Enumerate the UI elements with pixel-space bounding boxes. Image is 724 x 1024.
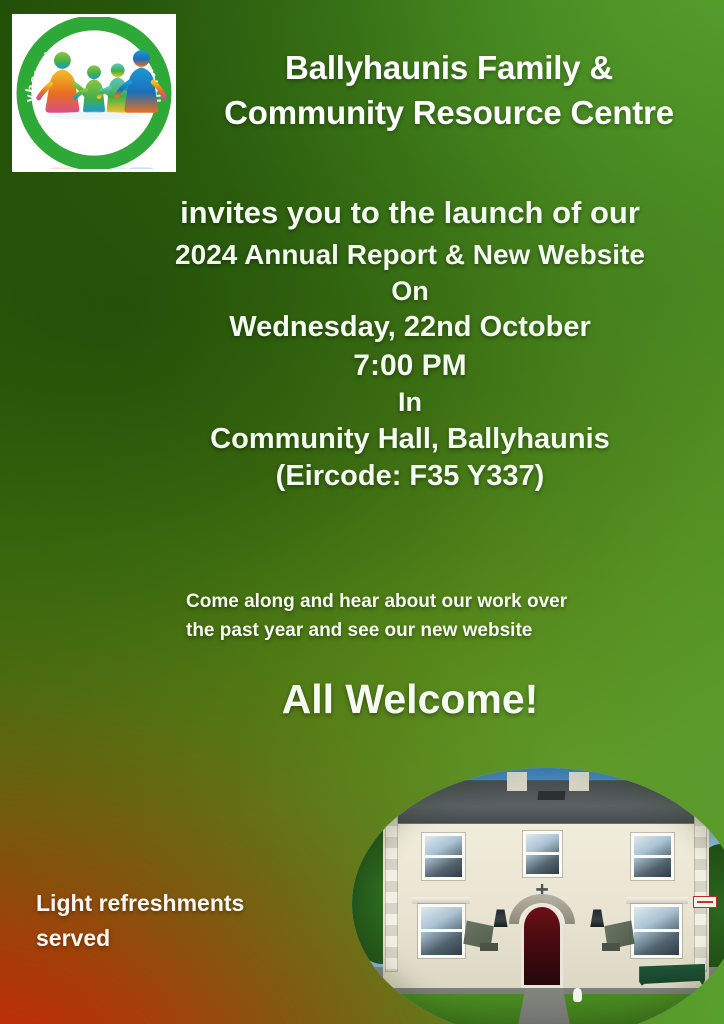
photo-window-upper-left xyxy=(422,833,465,879)
invite-line-in: In xyxy=(90,385,724,420)
photo-window-lower-left xyxy=(418,904,465,958)
invite-line-eircode: (Eircode: F35 Y337) xyxy=(90,458,724,496)
poster-title-line-2: Community Resource Centre xyxy=(186,91,712,136)
logo-icon: Ballyhaunis Family & Community RESOURCE … xyxy=(15,17,173,169)
photo-window-hood-right xyxy=(626,897,688,904)
photo-skylight xyxy=(538,791,566,800)
refreshments-line-1: Light refreshments xyxy=(36,886,336,921)
blurb-line-1: Come along and hear about our work over xyxy=(186,587,638,616)
blurb-line-2: the past year and see our new website xyxy=(186,616,638,645)
invite-line-venue: Community Hall, Ballyhaunis xyxy=(90,421,724,459)
all-welcome-heading: All Welcome! xyxy=(90,676,724,723)
photo-roof xyxy=(368,780,724,824)
photo-notice-sign xyxy=(693,896,716,908)
photo-quoin-right xyxy=(694,814,707,972)
photo-plaque-right xyxy=(602,943,620,950)
photo-window-upper-right xyxy=(631,833,674,879)
poster-title-line-1: Ballyhaunis Family & xyxy=(186,46,712,91)
photo-cat xyxy=(573,988,582,1002)
invite-line-on: On xyxy=(90,274,724,309)
invitation-block: invites you to the launch of our 2024 An… xyxy=(90,193,724,496)
photo-window-lower-right xyxy=(631,904,681,958)
building-photo xyxy=(352,768,724,1024)
invite-line-intro: invites you to the launch of our xyxy=(90,193,724,233)
invite-line-date: Wednesday, 22nd October xyxy=(90,309,724,347)
organisation-logo: Ballyhaunis Family & Community RESOURCE … xyxy=(12,14,176,172)
photo-chimney-right xyxy=(569,772,589,791)
poster-canvas: Ballyhaunis Family & Community RESOURCE … xyxy=(0,0,724,1024)
invite-line-time: 7:00 PM xyxy=(90,346,724,385)
invite-line-subject: 2024 Annual Report & New Website xyxy=(90,237,724,273)
invitation-blurb: Come along and hear about our work over … xyxy=(186,587,638,646)
photo-chimney-left xyxy=(507,772,527,791)
building-photo-image xyxy=(352,768,724,1024)
poster-title: Ballyhaunis Family & Community Resource … xyxy=(186,46,712,136)
poster-content: Ballyhaunis Family & Community RESOURCE … xyxy=(0,0,724,1024)
refreshments-line-2: served xyxy=(36,921,336,956)
photo-quoin-left xyxy=(385,814,398,972)
photo-front-door xyxy=(521,904,564,988)
photo-plaque-left xyxy=(480,943,498,950)
refreshments-note: Light refreshments served xyxy=(36,886,336,956)
photo-window-hood-left xyxy=(412,897,470,904)
photo-window-upper-centre xyxy=(523,831,562,877)
